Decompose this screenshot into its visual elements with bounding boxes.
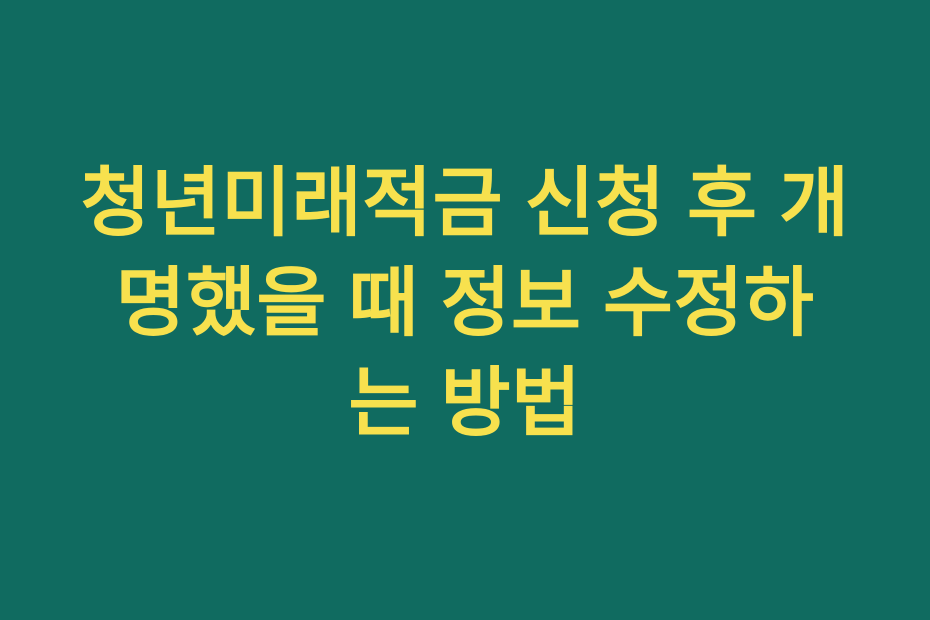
banner-title-line-1: 청년미래적금 신청 후 개 [65, 154, 865, 254]
banner-canvas: 청년미래적금 신청 후 개 명했을 때 정보 수정하 는 방법 [0, 0, 930, 620]
banner-title-line-2: 명했을 때 정보 수정하 [65, 254, 865, 354]
banner-title-line-3: 는 방법 [65, 354, 865, 454]
banner-title: 청년미래적금 신청 후 개 명했을 때 정보 수정하 는 방법 [65, 154, 865, 454]
